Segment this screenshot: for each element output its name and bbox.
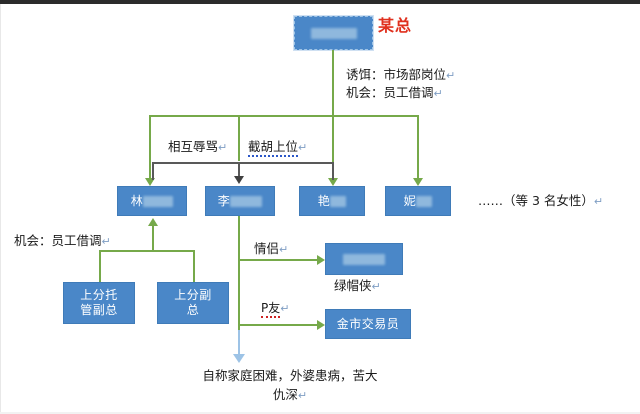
connector-li-to-greenhat [238,259,319,261]
bottom-note: 自称家庭困难，外婆患病，苦大 仇深↵ [155,366,425,405]
bottom-note-line2: 仇深↵ [155,385,425,405]
pilcrow-mark: ↵ [594,195,603,208]
node-yan-label: 艳 [318,194,331,208]
arrowhead-blue-tail [233,354,245,363]
label-bait: 诱饵：市场部岗位↵ [346,66,455,84]
pilcrow-mark: ↵ [434,87,443,100]
connector-blue-tail [238,330,240,356]
pilcrow-mark: ↵ [298,389,307,402]
node-yan-redacted-name [330,196,346,207]
node-lin-redacted-name [143,196,173,207]
diagram-canvas: 某总 诱饵：市场部岗位↵ 机会：员工借调↵ 相互辱骂↵ 截胡上位↵ 林 李 艳 … [0,0,640,414]
caption-other-women: ……（等 3 名女性）↵ [478,192,603,210]
connector-dark-left-drop [152,162,154,180]
node-vp-line2: 总 [187,303,200,318]
node-lin-label: 林 [131,194,144,208]
node-trader-label: 金市交易员 [337,317,400,331]
label-boss-title: 某总 [378,17,412,34]
connector-li-to-trader [238,324,319,326]
label-cut-in-line: 截胡上位↵ [248,138,307,156]
pilcrow-mark: ↵ [372,280,381,293]
node-trader[interactable]: 金市交易员 [325,309,411,339]
node-green-hat-redacted-name [343,254,385,265]
node-vp-trust-line2: 管副总 [80,303,118,318]
node-boss[interactable] [294,16,373,50]
node-boss-redacted-name [311,28,357,39]
connector-vp-riser [152,226,154,250]
arrowhead-vp-to-lin [148,218,158,226]
connector-dark-cross [152,162,334,164]
pilcrow-mark: ↵ [218,141,227,154]
connector-bus-to-ni [417,115,419,180]
pilcrow-mark: ↵ [446,69,455,82]
pilcrow-mark: ↵ [298,141,307,154]
node-ni-label: 妮 [404,194,417,208]
arrowhead-li-to-greenhat [317,255,325,265]
node-green-hat[interactable] [325,243,403,275]
pilcrow-mark: ↵ [102,235,111,248]
node-vp-line1: 上分副 [174,288,212,303]
node-vp-trust[interactable]: 上分托 管副总 [63,282,135,324]
node-ni[interactable]: 妮 [385,186,451,216]
connector-bus-to-li [238,115,240,161]
node-yan[interactable]: 艳 [299,186,365,216]
connector-vp-bus [99,250,195,252]
node-ni-redacted-name [416,196,432,207]
node-li-redacted-name [230,196,262,207]
label-couple: 情侣↵ [254,240,288,258]
connector-boss-stem [332,50,334,116]
arrowhead-dark-to-li [234,176,244,184]
node-vp[interactable]: 上分副 总 [157,282,229,324]
arrowhead-li-to-trader [317,320,325,330]
label-chance-left: 机会：员工借调↵ [14,232,111,250]
label-mutual-abuse: 相互辱骂↵ [168,138,227,156]
pilcrow-mark: ↵ [279,243,288,256]
left-edge-border [0,4,1,414]
connector-green-bus [149,115,418,117]
connector-bus-to-lin [149,115,151,180]
node-li-label: 李 [218,194,231,208]
caption-green-hat: 绿帽侠↵ [334,277,381,295]
label-p-friend: P友↵ [261,300,289,317]
bottom-note-line1: 自称家庭困难，外婆患病，苦大 [155,366,425,385]
node-vp-trust-line1: 上分托 [80,288,118,303]
connector-vp-riser-right [193,250,195,282]
label-chance-top: 机会：员工借调↵ [346,84,443,102]
arrowhead-bus-to-ni [413,178,423,186]
connector-dark-right-drop [332,162,334,180]
node-li[interactable]: 李 [205,186,275,216]
node-lin[interactable]: 林 [117,186,187,216]
connector-vp-trust-riser [99,250,101,282]
pilcrow-mark: ↵ [280,302,289,315]
top-edge-strip [0,0,640,4]
